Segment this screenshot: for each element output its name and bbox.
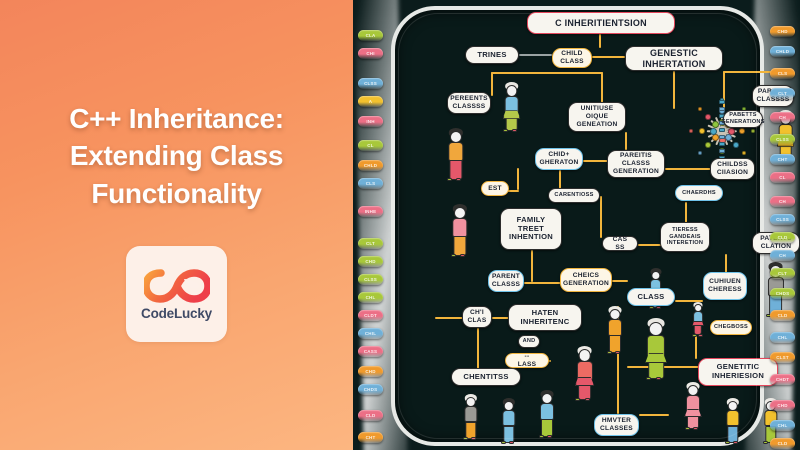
connector-line bbox=[491, 72, 493, 96]
burst-spoke bbox=[711, 120, 733, 142]
diagram-node-label: PARENTCLASSS bbox=[488, 270, 524, 292]
figure-skirt bbox=[685, 409, 702, 417]
burst-dot bbox=[725, 121, 732, 128]
connector-line bbox=[695, 335, 697, 359]
figure-torso bbox=[693, 311, 703, 323]
rail-pill: CLSS bbox=[770, 134, 795, 145]
figure-hair bbox=[693, 302, 702, 308]
person-figure bbox=[643, 318, 669, 386]
rail-pill: CLSS bbox=[770, 214, 795, 225]
rail-pill: CHD bbox=[358, 366, 383, 377]
diagram-node-label: C INHERITIENTSION bbox=[527, 12, 675, 34]
figure-shoe bbox=[503, 129, 508, 132]
figure-torso bbox=[647, 335, 665, 357]
figure-shoe bbox=[585, 398, 590, 401]
figure-skirt bbox=[692, 321, 704, 327]
rail-pill: CHL bbox=[770, 420, 795, 431]
burst-dot bbox=[725, 134, 732, 141]
connector-line bbox=[723, 71, 725, 111]
connector-line bbox=[639, 414, 669, 416]
connector-line bbox=[601, 72, 603, 104]
connector-line bbox=[491, 72, 603, 74]
figure-torso bbox=[650, 279, 662, 293]
rail-pill: A bbox=[358, 96, 383, 107]
figure-shoe bbox=[693, 427, 698, 430]
rail-pill: CH bbox=[770, 196, 795, 207]
figure-head bbox=[694, 304, 702, 312]
connector-line bbox=[524, 282, 562, 284]
burst-dot bbox=[733, 142, 739, 148]
figure-hair bbox=[541, 390, 554, 398]
diagram-node-label: CH'ICLAS bbox=[462, 306, 492, 328]
rail-pill: CHLD bbox=[770, 46, 795, 57]
diagram-node-label: PAREITISCLASSSGENERATION bbox=[607, 150, 665, 178]
diagram-node-label: CHEICSGENERATION bbox=[560, 268, 612, 292]
diagram-node-label: CUHIUENCHERESS bbox=[703, 272, 747, 300]
connector-line bbox=[519, 54, 552, 56]
burst-ladder-bar bbox=[719, 135, 725, 139]
figure-head bbox=[610, 309, 621, 320]
rail-pill: CHDT bbox=[770, 374, 795, 385]
burst-dot bbox=[739, 128, 745, 134]
burst-dot bbox=[698, 151, 703, 156]
page-title: C++ Inheritance: Extending Class Functio… bbox=[31, 100, 323, 213]
burst-ladder-bar bbox=[719, 100, 725, 104]
figure-shoe bbox=[456, 178, 461, 181]
connector-line bbox=[477, 328, 479, 370]
dna-burst-graphic bbox=[683, 92, 761, 170]
figure-shoe bbox=[656, 306, 661, 309]
right-pill-rail: CHDCHLDCLSCLTCHCLSSCHTCLCHCLSSCLDCHCLTCH… bbox=[766, 0, 800, 450]
rail-pill: CLT bbox=[770, 268, 795, 279]
rail-pill: CLSS bbox=[358, 274, 383, 285]
figure-head bbox=[542, 393, 553, 404]
connector-line bbox=[665, 168, 711, 170]
brand-wordmark: CodeLucky bbox=[141, 306, 212, 321]
burst-ladder-bar bbox=[719, 114, 725, 118]
burst-dot bbox=[712, 121, 719, 128]
person-figure bbox=[445, 128, 467, 185]
diagram-node-label: CHENTITSS bbox=[451, 368, 521, 386]
burst-dot bbox=[719, 108, 725, 114]
figure-torso bbox=[464, 406, 477, 422]
figure-torso bbox=[540, 403, 554, 420]
rail-pill: CHL bbox=[358, 292, 383, 303]
figure-legs bbox=[453, 236, 466, 256]
title-line-3: Functionality bbox=[31, 175, 323, 213]
rail-pill: CLSS bbox=[358, 78, 383, 89]
figure-shoe bbox=[607, 351, 612, 354]
burst-spoke bbox=[708, 125, 736, 138]
figure-shoe bbox=[447, 178, 452, 181]
figure-hair bbox=[502, 398, 514, 406]
figure-hair bbox=[726, 398, 738, 406]
figure-legs bbox=[609, 335, 621, 353]
burst-dot bbox=[719, 119, 726, 126]
rail-pill: CHD bbox=[770, 26, 795, 37]
connector-line bbox=[517, 168, 519, 190]
rail-pill: CHT bbox=[358, 432, 383, 443]
person-figure bbox=[605, 306, 625, 358]
figure-torso bbox=[726, 410, 739, 426]
connector-line bbox=[583, 160, 609, 162]
person-figure bbox=[573, 346, 596, 406]
burst-ladder-bar bbox=[719, 121, 725, 125]
burst-dot bbox=[719, 137, 726, 144]
burst-spoke bbox=[707, 130, 737, 132]
figure-legs bbox=[541, 419, 553, 437]
figure-shoe bbox=[463, 437, 468, 440]
rail-pill: CLS bbox=[358, 178, 383, 189]
rail-pill: CHDS bbox=[358, 384, 383, 395]
burst-dot bbox=[719, 148, 725, 154]
diagram-node-label: CHID+GHERATON bbox=[535, 148, 583, 170]
left-pill-rail: CLACHICLSSAINHCLCHLDCLSINHECLTCHDCLSSCHL… bbox=[355, 0, 389, 450]
figure-head bbox=[450, 131, 462, 143]
burst-ladder-bar bbox=[719, 156, 725, 160]
figure-shoe bbox=[471, 437, 476, 440]
rail-pill: CLD bbox=[770, 232, 795, 243]
rail-pill: CHI bbox=[358, 48, 383, 59]
rail-pill: CLDT bbox=[358, 310, 383, 321]
figure-skirt bbox=[503, 110, 521, 118]
rail-pill: INHE bbox=[358, 206, 383, 217]
rail-pill: CHD bbox=[358, 256, 383, 267]
person-figure bbox=[499, 398, 518, 447]
figure-head bbox=[651, 271, 660, 280]
burst-dot bbox=[699, 128, 705, 134]
burst-dot bbox=[705, 114, 711, 120]
figure-shoe bbox=[646, 377, 651, 380]
figure-shoe bbox=[512, 129, 517, 132]
infinity-leaf-icon bbox=[144, 267, 210, 305]
burst-dot bbox=[720, 160, 725, 165]
illustration-panel: C INHERITIENTSIONTRINESCHILDCLASSGENESTI… bbox=[353, 0, 800, 450]
rail-pill: CHIL bbox=[358, 328, 383, 339]
rail-pill: CLD bbox=[358, 410, 383, 421]
connector-line bbox=[625, 132, 627, 150]
figure-torso bbox=[608, 319, 622, 336]
rail-pill: CH bbox=[770, 250, 795, 261]
figure-shoe bbox=[509, 441, 514, 444]
figure-legs bbox=[648, 356, 664, 379]
figure-head bbox=[578, 349, 591, 362]
burst-dot bbox=[710, 128, 717, 135]
diagram-node-label: HMVTERCLASSES bbox=[594, 414, 639, 436]
rail-pill: CHT bbox=[770, 154, 795, 165]
rail-pill: CLT bbox=[358, 238, 383, 249]
figure-hair bbox=[505, 82, 519, 90]
connector-line bbox=[617, 306, 619, 414]
burst-spoke bbox=[716, 117, 729, 145]
figure-head bbox=[688, 385, 699, 396]
concept-map: C INHERITIENTSIONTRINESCHILDCLASSGENESTI… bbox=[395, 10, 760, 442]
figure-head bbox=[465, 397, 475, 407]
figure-shoe bbox=[725, 441, 730, 444]
burst-spoke bbox=[721, 116, 723, 146]
diagram-node-label: CHILDCLASS bbox=[552, 48, 592, 68]
connector-line bbox=[612, 280, 628, 282]
figure-shoe bbox=[698, 334, 703, 337]
diagram-node-label: TIERESSGANDEAISINTERETION bbox=[660, 222, 710, 252]
connector-line bbox=[675, 300, 703, 302]
burst-dot bbox=[720, 98, 725, 103]
burst-ladder-bar bbox=[719, 142, 725, 146]
figure-shoe bbox=[460, 254, 465, 257]
diagram-node-label: AND bbox=[518, 335, 540, 348]
connector-line bbox=[638, 244, 662, 246]
figure-shoe bbox=[501, 441, 506, 444]
diagram-node-label: UNITIUSEOIQUEGENEATION bbox=[568, 102, 626, 132]
brand-logo-card: CodeLucky bbox=[126, 246, 227, 342]
rail-pill: CHL bbox=[770, 332, 795, 343]
rail-pill: CHDS bbox=[770, 288, 795, 299]
connector-line bbox=[673, 71, 675, 109]
figure-head bbox=[503, 401, 513, 411]
figure-shoe bbox=[539, 435, 544, 438]
figure-shoe bbox=[547, 435, 552, 438]
title-line-2: Extending Class bbox=[31, 137, 323, 175]
diagram-node-label: CHAERDHS bbox=[675, 185, 723, 201]
person-figure bbox=[723, 398, 742, 447]
figure-legs bbox=[449, 160, 462, 180]
burst-spoke bbox=[711, 120, 733, 142]
figure-shoe bbox=[685, 427, 690, 430]
rail-pill: CL bbox=[358, 140, 383, 151]
connector-line bbox=[627, 366, 699, 368]
burst-spoke bbox=[716, 117, 729, 145]
person-figure bbox=[683, 382, 703, 434]
connector-line bbox=[685, 202, 687, 224]
figure-head bbox=[649, 322, 663, 336]
figure-torso bbox=[576, 361, 592, 381]
figure-skirt bbox=[575, 377, 595, 386]
diagram-node-label: TRINES bbox=[465, 46, 519, 64]
figure-hair bbox=[449, 128, 463, 137]
burst-ladder-bar bbox=[719, 128, 725, 132]
figure-shoe bbox=[656, 377, 661, 380]
rail-pill: CASS bbox=[358, 346, 383, 357]
connector-line bbox=[492, 317, 510, 319]
figure-legs bbox=[687, 411, 699, 429]
diagram-node-label: FAMILY TREET INHENTION bbox=[500, 208, 562, 250]
diagram-node-label: CARENTIOSS bbox=[548, 188, 600, 203]
diagram-node-label: CASSS bbox=[602, 236, 638, 251]
figure-torso bbox=[448, 142, 463, 161]
burst-dot bbox=[712, 134, 719, 141]
burst-dot bbox=[742, 107, 747, 112]
figure-skirt bbox=[645, 353, 667, 363]
burst-dot bbox=[751, 129, 756, 134]
burst-dot bbox=[733, 114, 739, 120]
figure-hair bbox=[687, 382, 700, 390]
figure-shoe bbox=[615, 351, 620, 354]
person-figure bbox=[537, 390, 557, 442]
connector-line bbox=[599, 34, 601, 48]
rail-pill: CLD bbox=[770, 438, 795, 449]
burst-dot bbox=[689, 129, 694, 134]
diagram-node-label: --LASS bbox=[505, 353, 549, 368]
person-figure bbox=[501, 82, 522, 137]
figure-hair bbox=[650, 268, 661, 275]
rail-pill: CLD bbox=[770, 310, 795, 321]
connector-line bbox=[725, 254, 727, 274]
rail-pill: INH bbox=[358, 116, 383, 127]
burst-dot bbox=[705, 142, 711, 148]
diagram-node-label: CHILDSSCIIASION bbox=[710, 158, 755, 180]
figure-hair bbox=[577, 346, 592, 355]
diagram-node-label: EST bbox=[481, 181, 509, 196]
burst-dot bbox=[742, 151, 747, 156]
diagram-node-label: PABETTSGENERATIONS bbox=[723, 110, 763, 128]
rail-pill: CH bbox=[770, 112, 795, 123]
figure-shoe bbox=[692, 334, 697, 337]
burst-dot bbox=[698, 107, 703, 112]
slide-root: C++ Inheritance: Extending Class Functio… bbox=[0, 0, 800, 450]
figure-head bbox=[454, 207, 466, 219]
burst-ladder-bar bbox=[719, 107, 725, 111]
connector-line bbox=[559, 170, 561, 190]
person-figure bbox=[449, 204, 471, 261]
person-figure bbox=[461, 394, 480, 443]
left-title-panel: C++ Inheritance: Extending Class Functio… bbox=[0, 0, 353, 450]
diagram-node-label: CHEGBOSS bbox=[710, 320, 752, 335]
rail-pill: CHLD bbox=[358, 160, 383, 171]
rail-pill: CHD bbox=[770, 400, 795, 411]
figure-torso bbox=[452, 218, 467, 237]
figure-hair bbox=[464, 394, 476, 402]
burst-spoke bbox=[708, 125, 736, 138]
diagram-node-label: HATEN INHERITENC bbox=[508, 304, 582, 331]
burst-dot bbox=[728, 128, 735, 135]
title-line-1: C++ Inheritance: bbox=[31, 100, 323, 138]
diagram-node-label: CLASS bbox=[627, 288, 675, 306]
person-figure bbox=[647, 268, 664, 312]
figure-legs bbox=[650, 293, 660, 308]
diagram-node-label: PEREENTSCLASSSS bbox=[447, 92, 491, 114]
connector-line bbox=[435, 317, 463, 319]
rail-pill: CLST bbox=[770, 352, 795, 363]
figure-legs bbox=[578, 379, 592, 400]
figure-shoe bbox=[575, 398, 580, 401]
burst-ladder-bar bbox=[719, 149, 725, 153]
figure-torso bbox=[502, 410, 515, 426]
figure-shoe bbox=[451, 254, 456, 257]
figure-shoe bbox=[733, 441, 738, 444]
diagram-frame: C INHERITIENTSIONTRINESCHILDCLASSGENESTI… bbox=[391, 6, 764, 446]
figure-legs bbox=[465, 422, 476, 439]
rail-pill: CL bbox=[770, 172, 795, 183]
rail-pill: CLA bbox=[358, 30, 383, 41]
connector-line bbox=[531, 250, 533, 282]
figure-legs bbox=[505, 112, 518, 131]
figure-shoe bbox=[649, 306, 654, 309]
figure-legs bbox=[694, 322, 702, 335]
connector-line bbox=[495, 190, 519, 192]
figure-torso bbox=[686, 395, 700, 412]
figure-torso bbox=[504, 96, 519, 114]
figure-hair bbox=[453, 204, 467, 213]
rail-pill: CLT bbox=[770, 88, 795, 99]
rail-pill: CLS bbox=[770, 68, 795, 79]
figure-head bbox=[727, 401, 737, 411]
connector-line bbox=[549, 360, 551, 362]
person-figure bbox=[691, 302, 705, 338]
figure-head bbox=[506, 85, 518, 97]
figure-hair bbox=[648, 318, 665, 328]
connector-line bbox=[600, 196, 602, 238]
connector-line bbox=[592, 56, 625, 58]
diagram-node-label: GENESTIC INHERTATION bbox=[625, 46, 723, 71]
figure-hair bbox=[609, 306, 622, 314]
